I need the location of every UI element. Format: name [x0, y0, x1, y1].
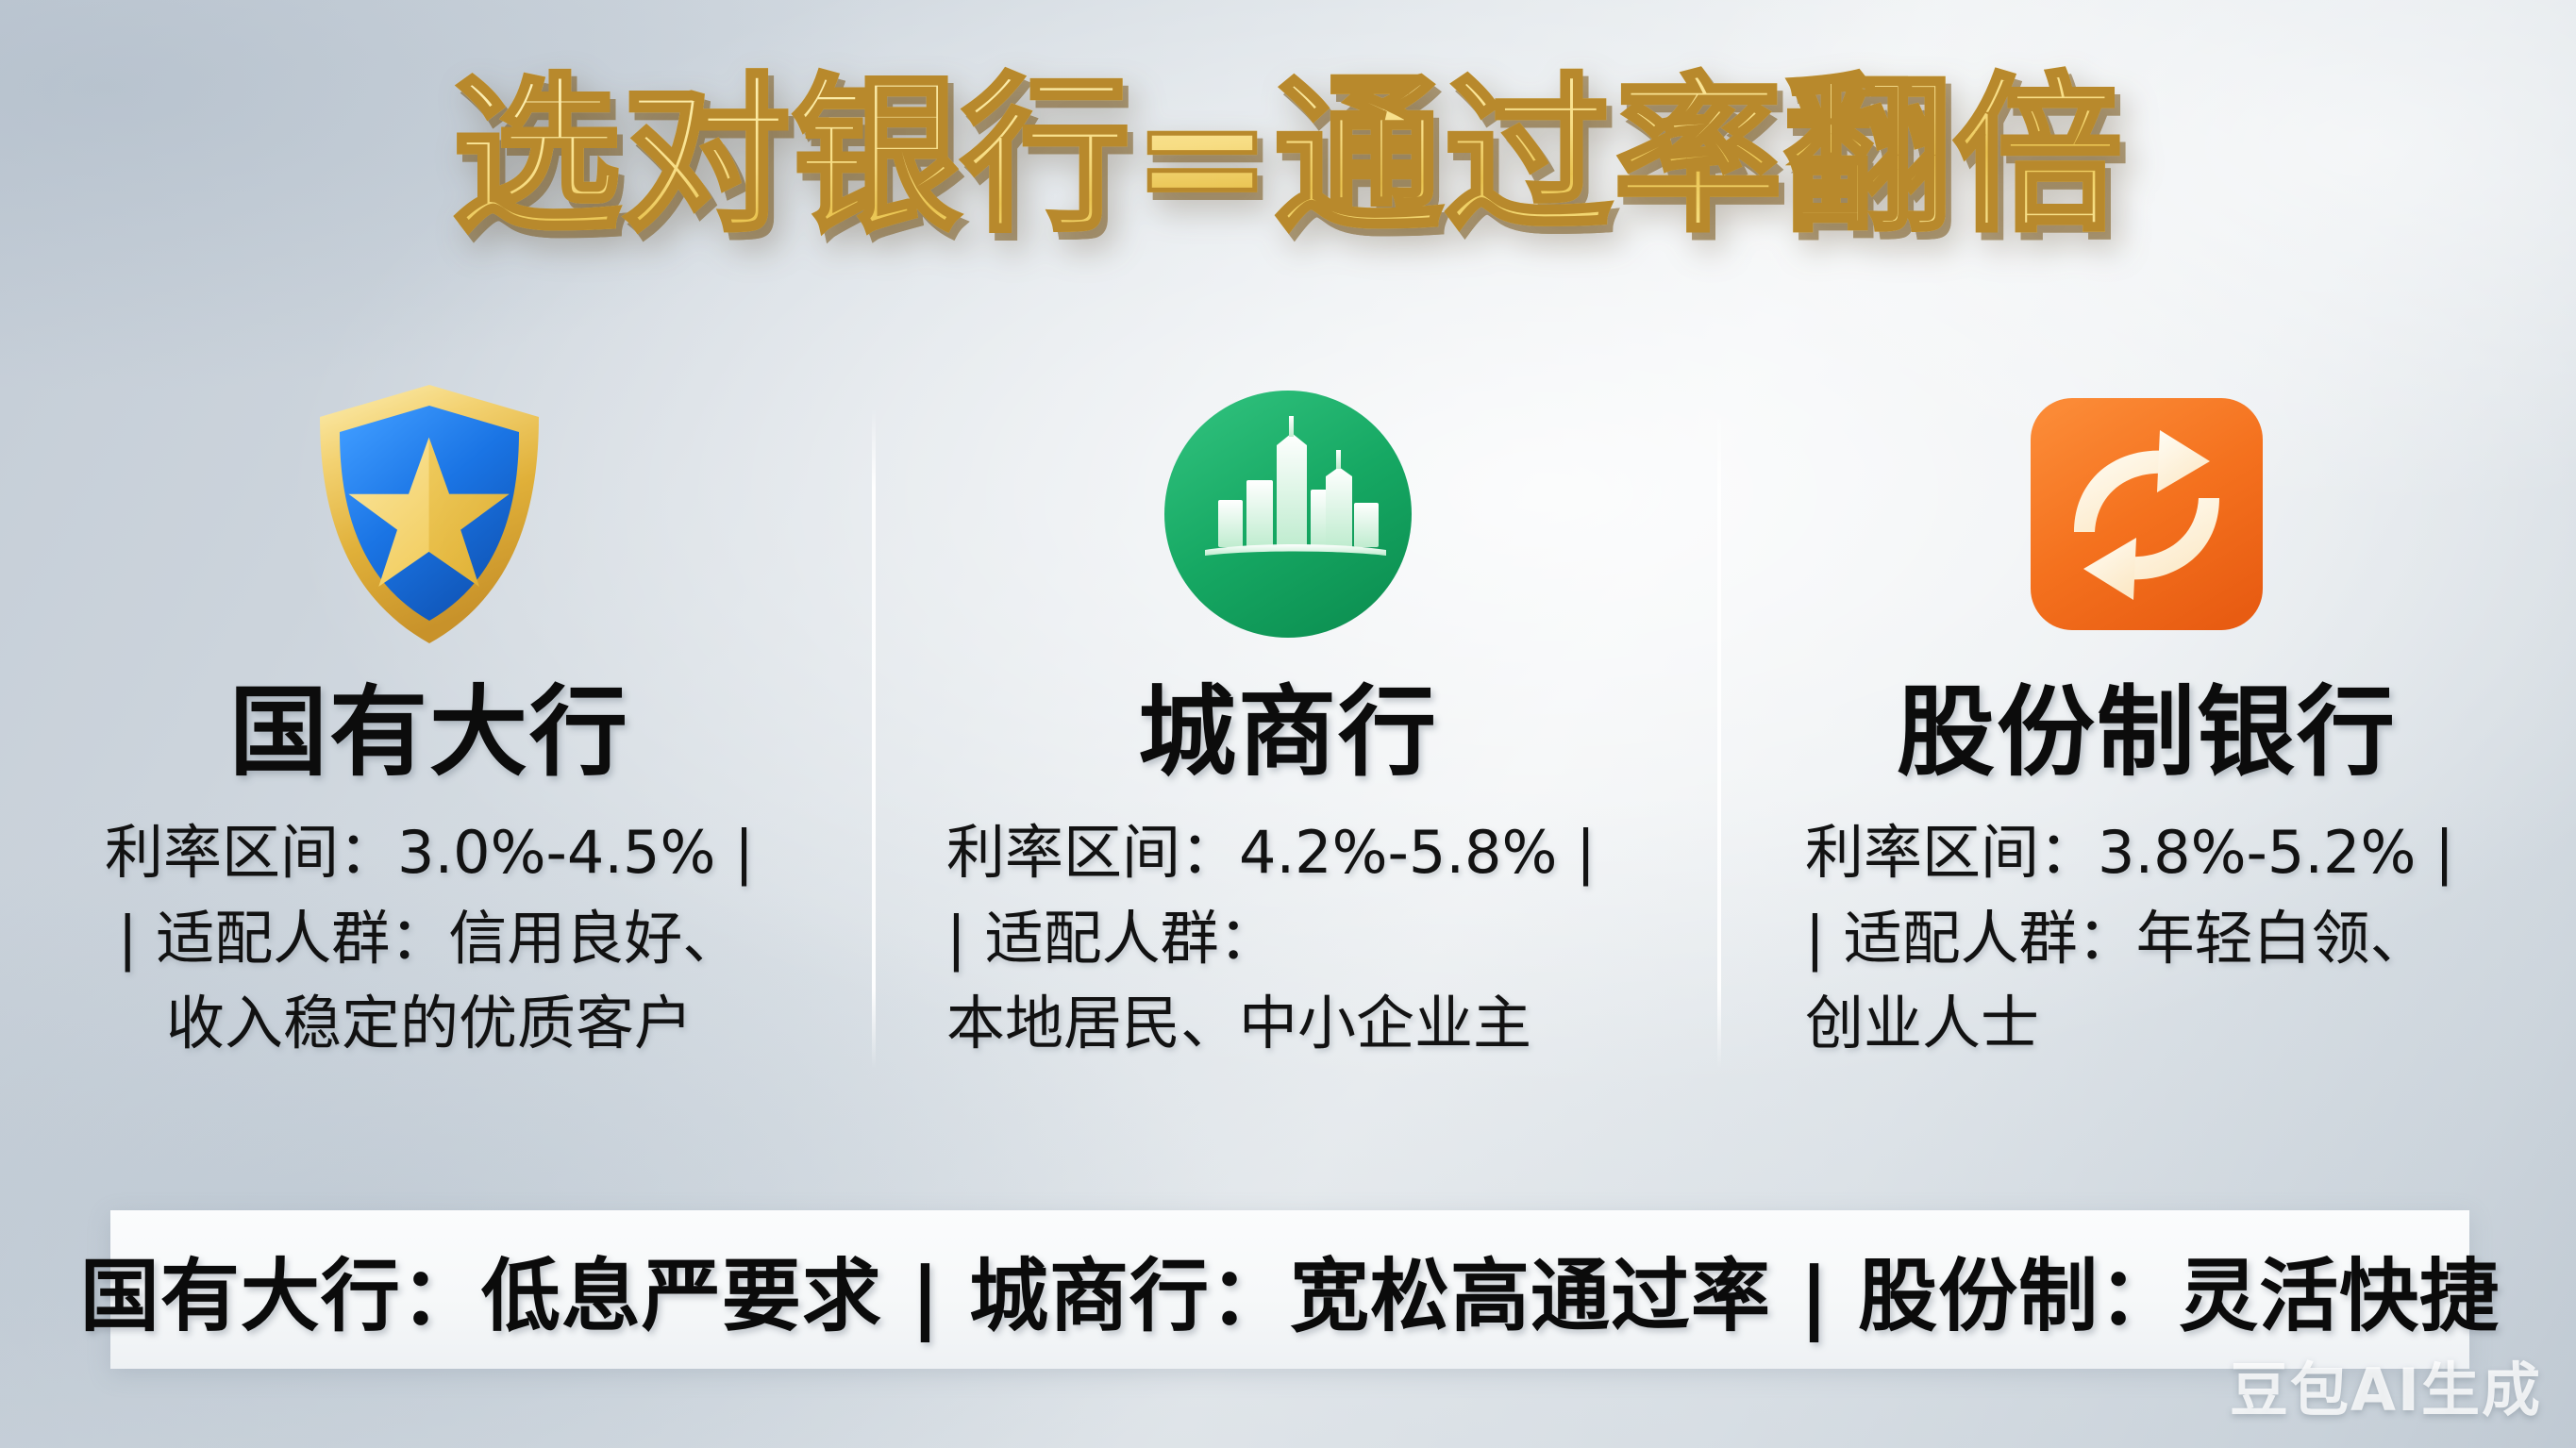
column-title: 城商行: [1138, 678, 1438, 786]
page-title: 选对银行=通过率翻倍: [452, 66, 2123, 247]
column-body: 利率区间：3.8%-5.2% | | 适配人群：年轻白领、 创业人士: [1771, 810, 2522, 1067]
column-body-line: 创业人士: [1805, 981, 2522, 1067]
sync-arrows-icon: [2005, 373, 2288, 656]
sync-arrows-icon-svg: [2025, 392, 2268, 636]
column-body-line: 利率区间：3.0%-4.5% |: [71, 810, 788, 896]
column-body: 利率区间：4.2%-5.8% | | 适配人群： 本地居民、中小企业主: [912, 810, 1664, 1067]
summary-text: 国有大行：低息严要求 | 城商行：宽松高通过率 | 股份制：灵活快捷: [80, 1233, 2500, 1347]
column-body-line: 利率区间：3.8%-5.2% |: [1805, 810, 2522, 896]
title-container: 选对银行=通过率翻倍: [0, 66, 2576, 247]
column-body-line: 本地居民、中小企业主: [946, 981, 1664, 1067]
watermark: 豆包AI生成: [2230, 1342, 2542, 1427]
column-title: 国有大行: [229, 678, 629, 786]
summary-bar: 国有大行：低息严要求 | 城商行：宽松高通过率 | 股份制：灵活快捷: [110, 1210, 2469, 1369]
column-divider-1: [872, 408, 876, 1069]
city-skyline-icon-svg: [1160, 386, 1416, 642]
column-city-commercial-bank[interactable]: 城商行 利率区间：4.2%-5.8% | | 适配人群： 本地居民、中小企业主: [859, 373, 1717, 1127]
shield-star-icon: [288, 373, 571, 656]
column-state-owned-bank[interactable]: 国有大行 利率区间：3.0%-4.5% | | 适配人群：信用良好、 收入稳定的…: [0, 373, 859, 1127]
column-body-line: 收入稳定的优质客户: [71, 981, 788, 1067]
column-body-line: | 适配人群：年轻白领、: [1805, 896, 2522, 982]
shield-star-icon-svg: [310, 381, 548, 647]
city-skyline-icon: [1146, 373, 1430, 656]
column-body: 利率区间：3.0%-4.5% | | 适配人群：信用良好、 收入稳定的优质客户: [71, 810, 788, 1067]
column-title: 股份制银行: [1897, 678, 2397, 786]
column-divider-2: [1717, 408, 1721, 1069]
column-joint-stock-bank[interactable]: 股份制银行 利率区间：3.8%-5.2% | | 适配人群：年轻白领、 创业人士: [1717, 373, 2576, 1127]
column-body-line: 利率区间：4.2%-5.8% |: [946, 810, 1664, 896]
column-body-line: | 适配人群：: [946, 896, 1664, 982]
column-body-line: | 适配人群：信用良好、: [71, 896, 788, 982]
bank-type-columns: 国有大行 利率区间：3.0%-4.5% | | 适配人群：信用良好、 收入稳定的…: [0, 373, 2576, 1127]
